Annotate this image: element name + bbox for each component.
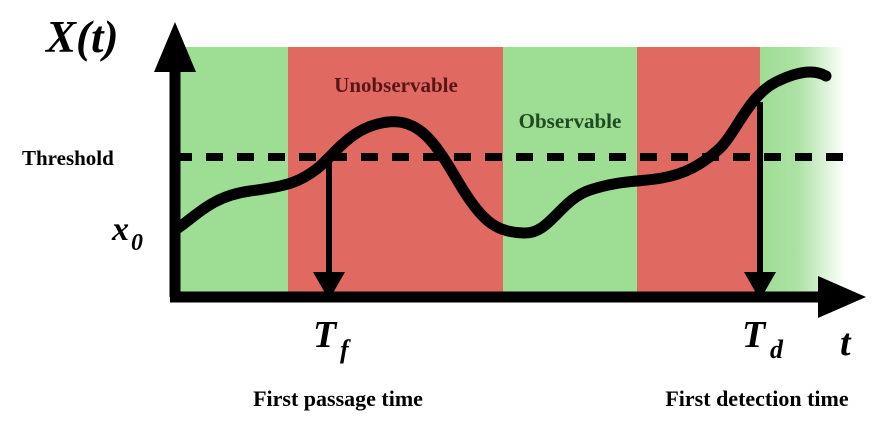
x-axis-title: t (840, 322, 852, 364)
band-unobservable-2 (637, 47, 760, 297)
svg-text:x: x (111, 211, 129, 248)
tf-sub: f (340, 335, 351, 364)
threshold-label: Threshold (22, 146, 114, 170)
y-axis-title: X(t) (44, 12, 119, 62)
observability-bands (180, 47, 845, 297)
first-detection-time-symbol: T d (742, 314, 784, 364)
svg-text:0: 0 (131, 230, 143, 256)
first-passage-time-caption: First passage time (253, 386, 423, 411)
band-observable-2 (503, 47, 637, 297)
initial-value-label: x 0 (111, 211, 143, 256)
band-label-unobservable: Unobservable (334, 73, 458, 97)
first-passage-time-symbol: T f (313, 314, 351, 364)
band-observable-1 (180, 47, 288, 297)
td-main: T (742, 314, 767, 356)
td-sub: d (770, 335, 784, 364)
diagram-svg: Unobservable Observable X(t) t (0, 0, 887, 426)
band-label-observable: Observable (519, 109, 622, 133)
first-detection-time-caption: First detection time (665, 386, 848, 411)
tf-main: T (313, 314, 338, 356)
figure-container: Unobservable Observable X(t) t (0, 0, 887, 426)
